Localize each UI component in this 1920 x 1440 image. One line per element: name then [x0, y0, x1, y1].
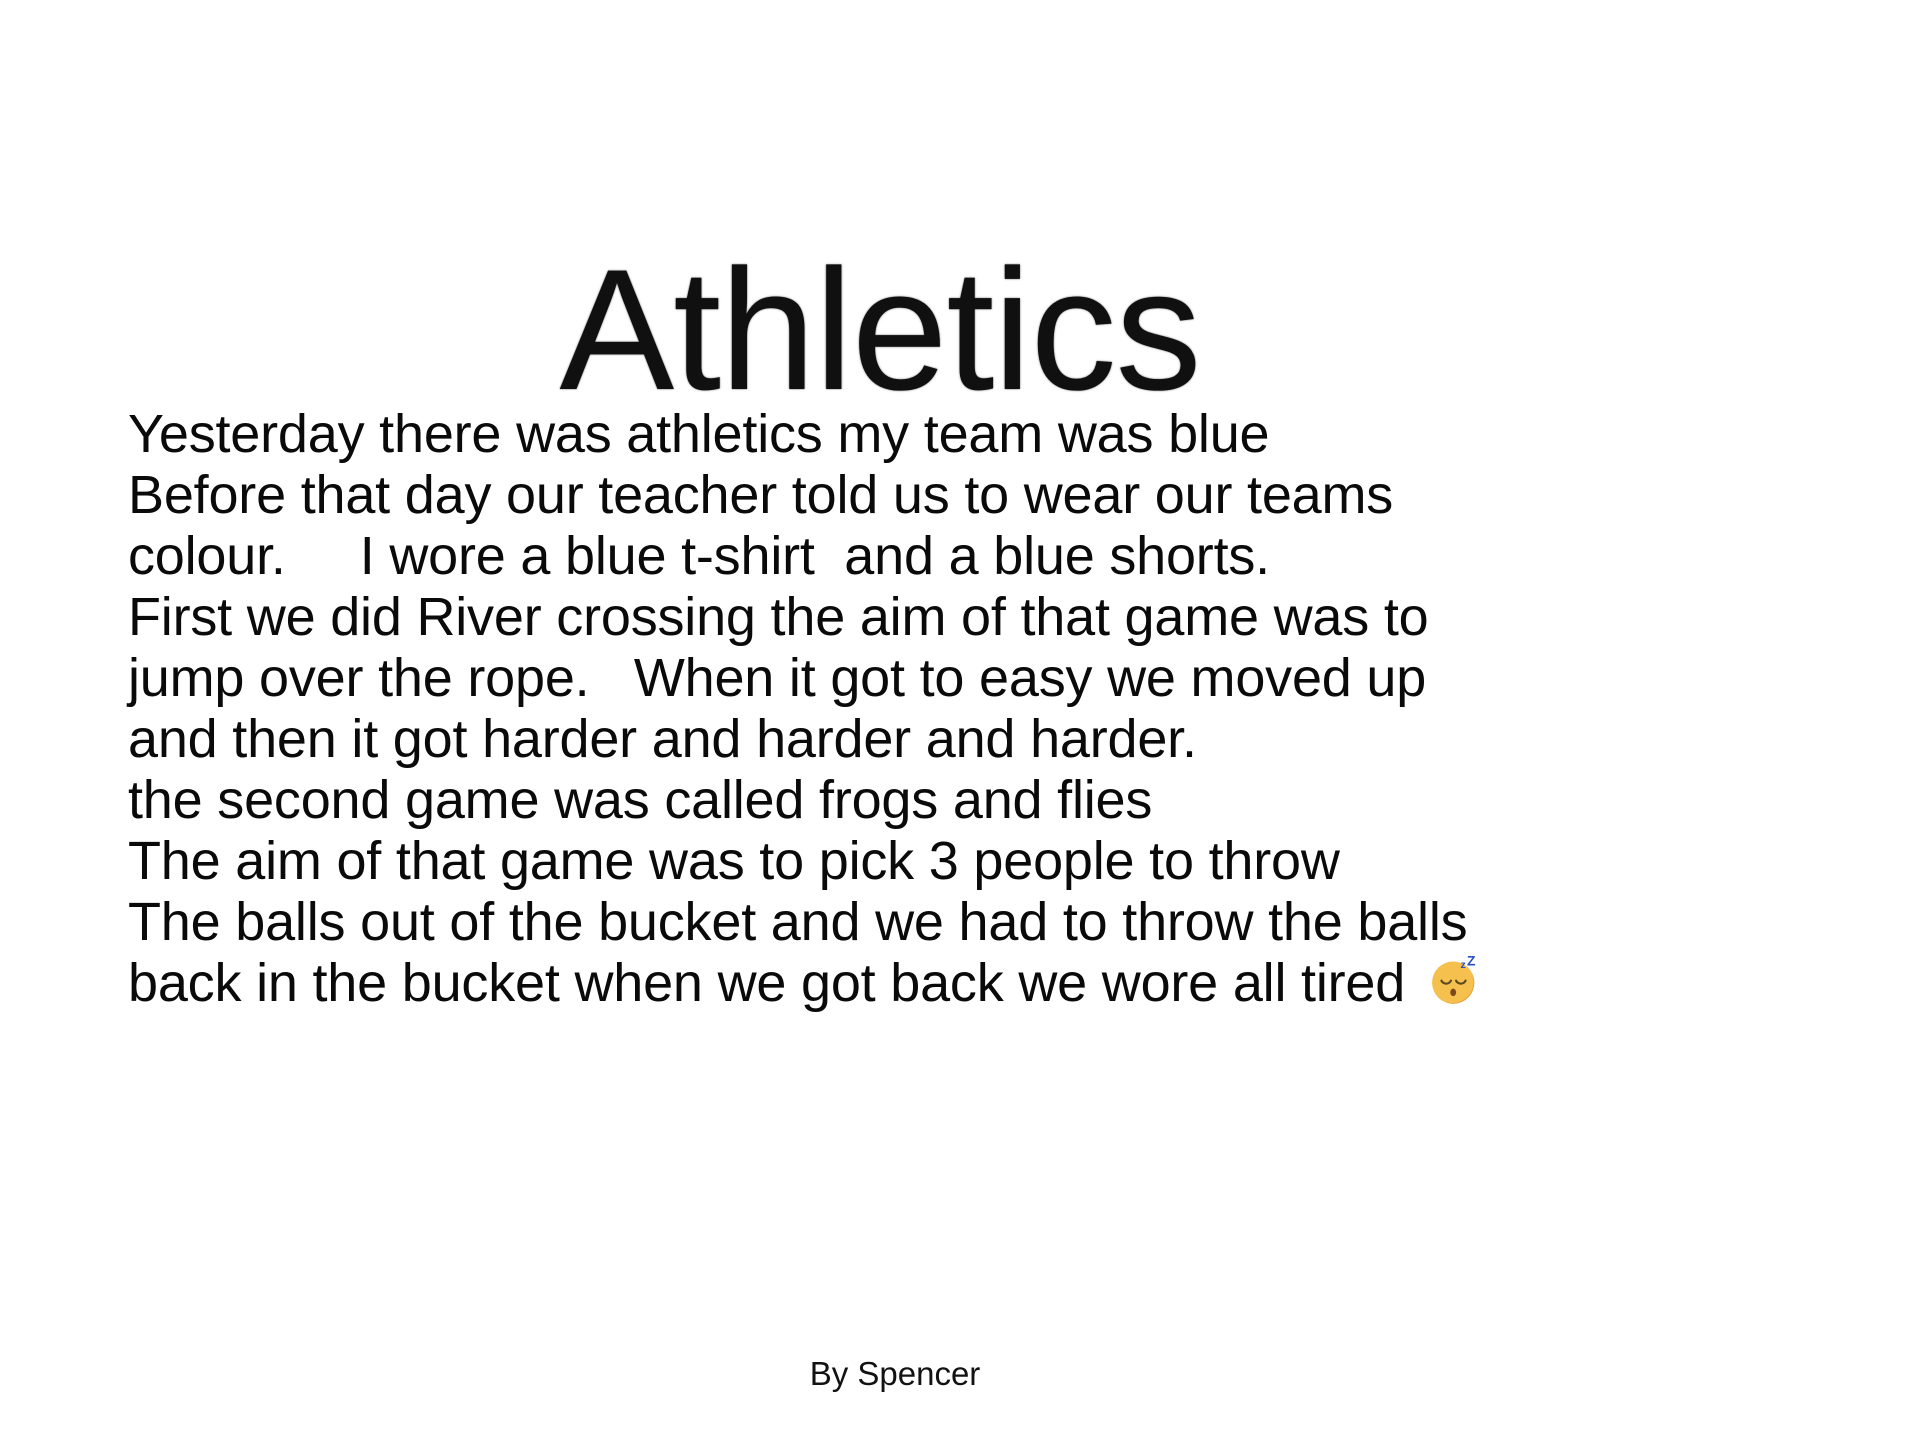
body-line: The aim of that game was to pick 3 peopl… [128, 831, 1888, 892]
body-text-block: Yesterday there was athletics my team wa… [128, 404, 1888, 1014]
svg-text:z: z [1460, 959, 1465, 971]
body-line: and then it got harder and harder and ha… [128, 709, 1888, 770]
body-line: The balls out of the bucket and we had t… [128, 892, 1888, 953]
page-title: Athletics [559, 243, 1200, 418]
body-line: jump over the rope. When it got to easy … [128, 648, 1888, 709]
body-line: First we did River crossing the aim of t… [128, 587, 1888, 648]
body-line-last: back in the bucket when we got back we w… [128, 953, 1888, 1014]
body-line: Yesterday there was athletics my team wa… [128, 404, 1888, 465]
body-line: colour. I wore a blue t-shirt and a blue… [128, 526, 1888, 587]
byline-container: By Spencer [0, 1355, 1920, 1393]
sleeping-face-emoji: z Z [1428, 955, 1480, 1007]
byline: By Spencer [810, 1355, 981, 1393]
body-line: the second game was called frogs and fli… [128, 770, 1888, 831]
body-line: Before that day our teacher told us to w… [128, 465, 1888, 526]
svg-text:Z: Z [1467, 955, 1476, 969]
body-line-text: back in the bucket when we got back we w… [128, 953, 1420, 1013]
document-page: Athletics Yesterday there was athletics … [0, 0, 1920, 1440]
